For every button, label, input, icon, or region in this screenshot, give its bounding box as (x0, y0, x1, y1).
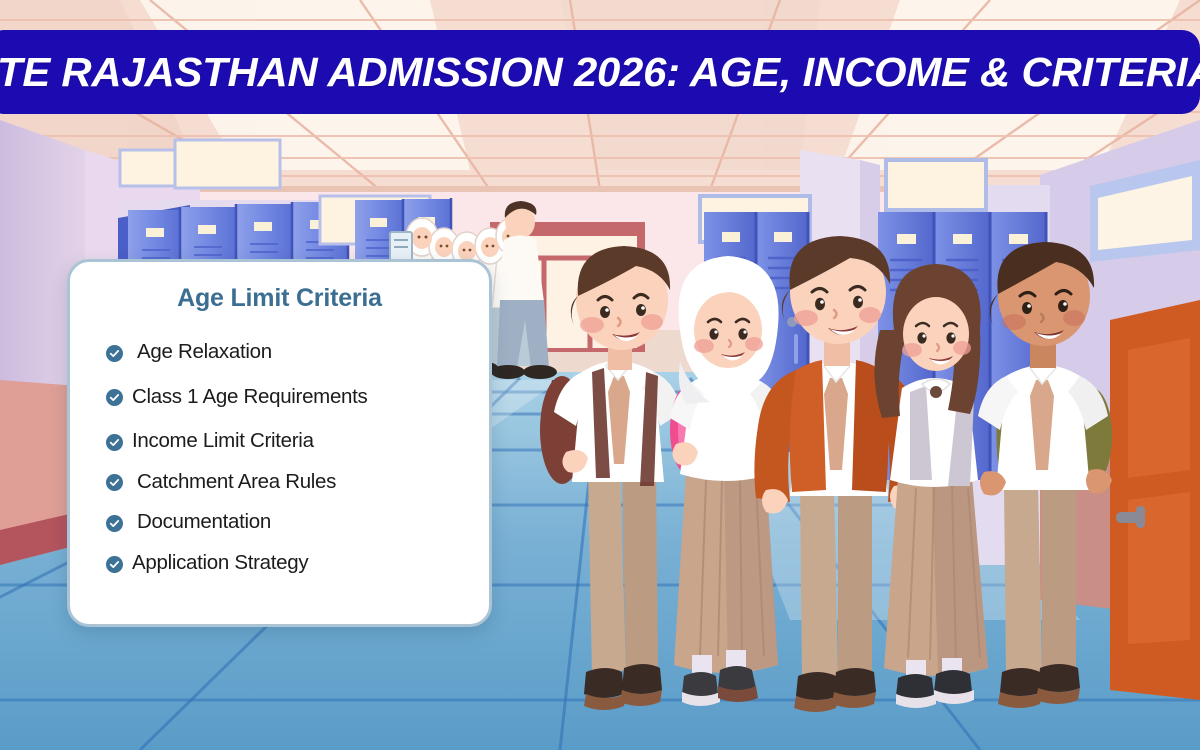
list-item-label: Age Relaxation (132, 341, 272, 364)
check-circle-icon (106, 515, 123, 532)
list-item-label: Application Strategy (132, 552, 308, 575)
title-banner: RTE RAJASTHAN ADMISSION 2026: AGE, INCOM… (0, 30, 1200, 114)
list-item-label: Documentation (132, 511, 271, 534)
criteria-card: Age Limit Criteria Age Relaxation Class … (67, 259, 492, 627)
criteria-list: Age Relaxation Class 1 Age Requirements … (70, 341, 489, 574)
list-item: Application Strategy (106, 552, 489, 575)
check-circle-icon (106, 345, 123, 362)
card-title: Age Limit Criteria (70, 284, 489, 313)
check-circle-icon (106, 556, 123, 573)
poster-canvas: RTE RAJASTHAN ADMISSION 2026: AGE, INCOM… (0, 0, 1200, 750)
list-item: Income Limit Criteria (106, 430, 489, 453)
list-item-label: Class 1 Age Requirements (132, 386, 368, 409)
check-circle-icon (106, 434, 123, 451)
list-item: Documentation (106, 511, 489, 534)
list-item-label: Income Limit Criteria (132, 430, 314, 453)
page-title: RTE RAJASTHAN ADMISSION 2026: AGE, INCOM… (0, 49, 1200, 96)
list-item: Age Relaxation (106, 341, 489, 364)
list-item: Class 1 Age Requirements (106, 386, 489, 409)
list-item-label: Catchment Area Rules (132, 471, 336, 494)
check-circle-icon (106, 474, 123, 491)
check-circle-icon (106, 389, 123, 406)
list-item: Catchment Area Rules (106, 471, 489, 494)
